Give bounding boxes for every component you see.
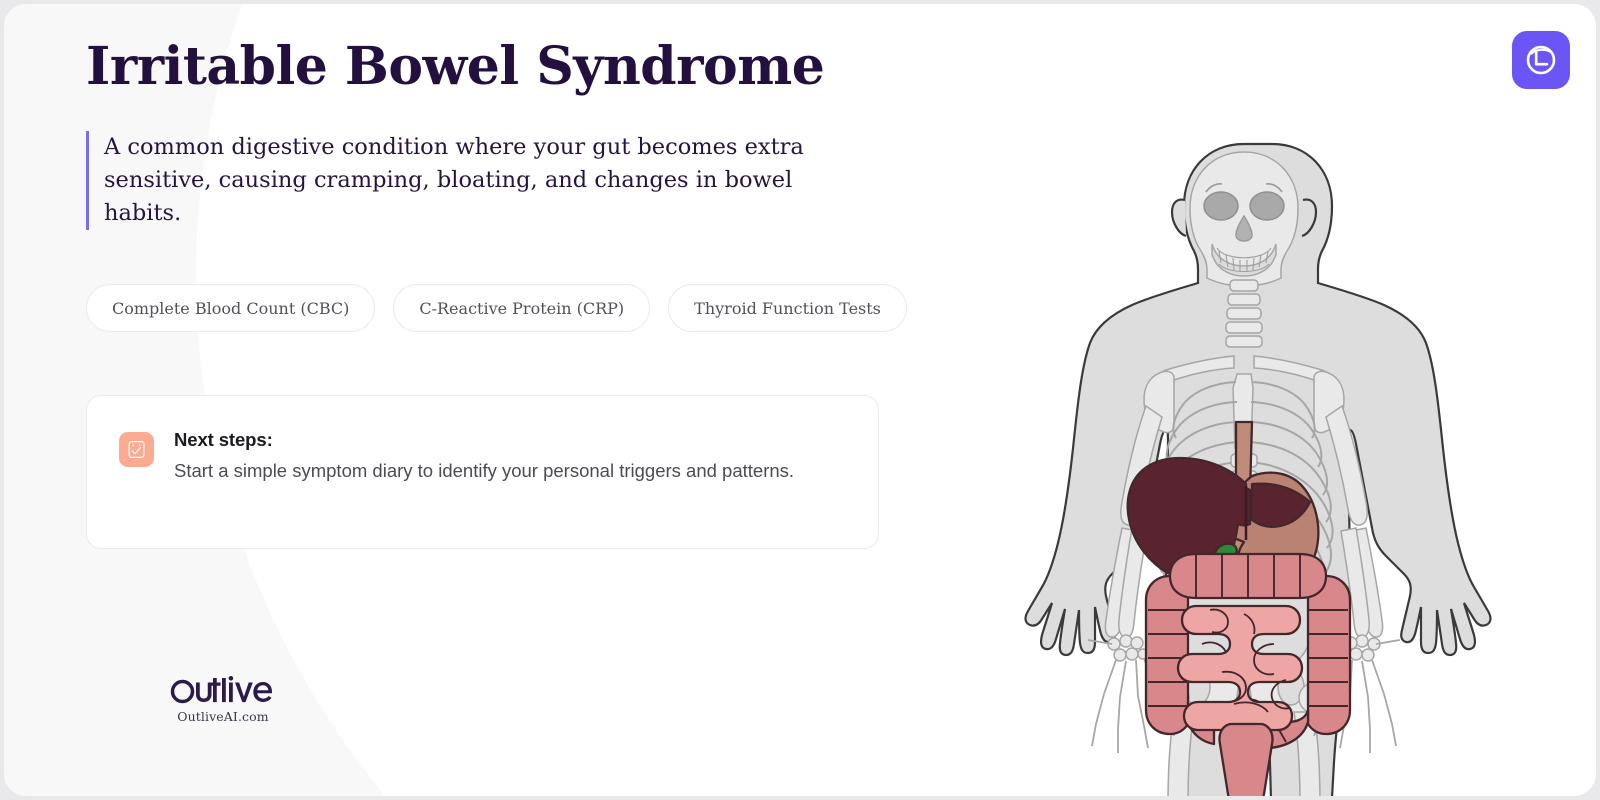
brand-badge[interactable] [1512,31,1570,89]
test-chip-thyroid[interactable]: Thyroid Function Tests [668,284,907,332]
clipboard-check-icon [126,439,147,460]
next-steps-card: Next steps: Start a simple symptom diary… [86,395,879,549]
subtitle-block: A common digestive condition where your … [86,131,816,230]
poster-content: Irritable Bowel Syndrome A common digest… [4,4,1596,796]
rectum-organ [1219,724,1272,796]
outlive-circle-l-logo-icon [1523,42,1559,78]
next-steps-icon-tile [119,432,154,467]
page-title: Irritable Bowel Syndrome [86,36,824,97]
human-digestive-anatomy-illustration [934,124,1554,796]
left-column: Irritable Bowel Syndrome A common digest… [86,4,906,796]
outlive-wordmark-icon [170,676,276,706]
next-steps-title: Next steps: [174,429,814,451]
test-chip-label: Thyroid Function Tests [694,299,881,318]
next-steps-body: Next steps: Start a simple symptom diary… [174,428,814,548]
subtitle-text: A common digestive condition where your … [104,131,816,230]
brand-url: OutliveAI.com [170,709,276,724]
next-steps-text: Start a simple symptom diary to identify… [174,456,814,486]
test-chip-cbc[interactable]: Complete Blood Count (CBC) [86,284,375,332]
test-chip-crp[interactable]: C-Reactive Protein (CRP) [393,284,650,332]
brand-footer: OutliveAI.com [170,676,276,724]
test-chip-label: Complete Blood Count (CBC) [112,299,349,318]
small-intestine-organ [1178,606,1302,730]
recommended-tests-chips: Complete Blood Count (CBC) C-Reactive Pr… [86,284,907,332]
test-chip-label: C-Reactive Protein (CRP) [419,299,624,318]
poster-canvas: Irritable Bowel Syndrome A common digest… [4,4,1596,796]
